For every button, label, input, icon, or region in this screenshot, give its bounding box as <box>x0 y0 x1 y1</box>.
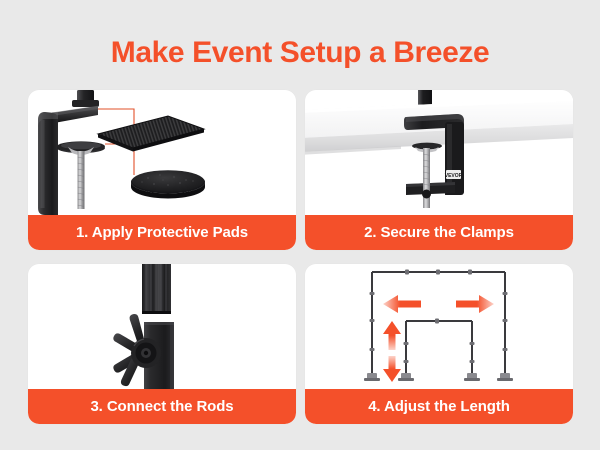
upper-rod <box>142 264 171 314</box>
clamp-on-table: VEVOR <box>404 114 464 195</box>
step-card-3[interactable]: 3. Connect the Rods <box>28 264 296 424</box>
clamp-screw <box>57 141 105 209</box>
vevor-logo-text: VEVOR <box>445 173 463 179</box>
step-caption-3: 3. Connect the Rods <box>28 389 296 424</box>
illustration-apply-protective-pads <box>28 90 296 215</box>
clamp-screw-2 <box>412 143 442 208</box>
left-arrow <box>383 295 421 313</box>
illustration-secure-the-clamps: VEVOR <box>305 90 573 215</box>
up-arrow <box>383 321 401 350</box>
steps-grid: 1. Apply Protective Pads <box>28 90 573 424</box>
page-title: Make Event Setup a Breeze <box>0 38 600 68</box>
base-feet <box>364 373 513 381</box>
step-card-1[interactable]: 1. Apply Protective Pads <box>28 90 296 250</box>
step-card-4[interactable]: 4. Adjust the Length <box>305 264 573 424</box>
clamp-post <box>72 90 99 107</box>
step-caption-4: 4. Adjust the Length <box>305 389 573 424</box>
square-ribbed-pad <box>98 116 204 152</box>
step-caption-1: 1. Apply Protective Pads <box>28 215 296 250</box>
down-arrow <box>383 356 401 382</box>
step-card-2[interactable]: VEVOR <box>305 90 573 250</box>
right-arrow <box>456 295 494 313</box>
illustration-connect-the-rods <box>28 264 296 389</box>
round-foam-pad <box>131 170 205 198</box>
illustration-adjust-the-length <box>305 264 573 389</box>
inner-frame <box>406 321 472 377</box>
step-caption-2: 2. Secure the Clamps <box>305 215 573 250</box>
